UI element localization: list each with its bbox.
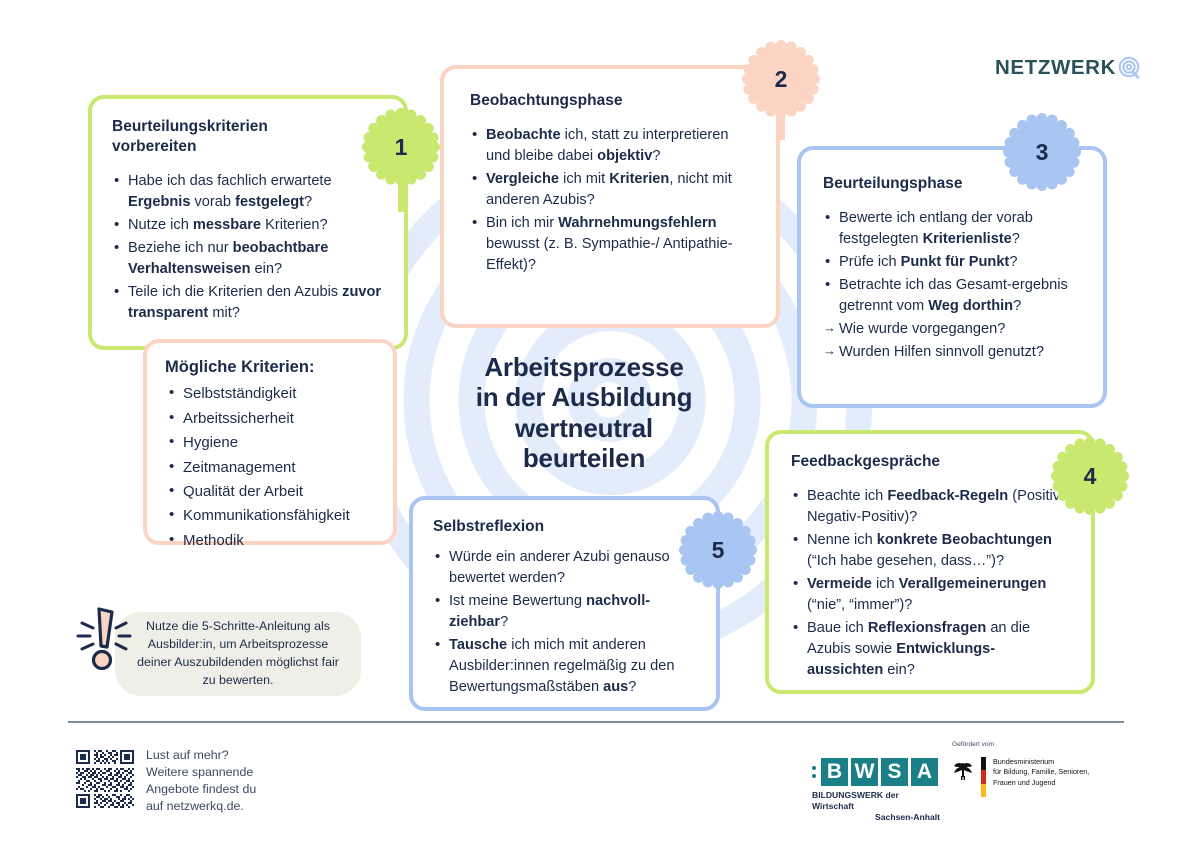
card-3-list: Bewerte ich entlang der vorab festgelegt… [823, 208, 1083, 363]
funded-by-label: Gefördert vom [952, 741, 1105, 748]
step-badge-3: 3 [1003, 113, 1081, 191]
list-item: Betrachte ich das Gesamt-ergebnis getren… [823, 275, 1083, 317]
bmbf-logo: Gefördert vom Bundesministerium für Bild… [952, 741, 1105, 797]
page-title-line: wertneutral [515, 413, 653, 443]
list-item: Kommunikationsfähigkeit [165, 506, 375, 526]
list-item: Nenne ich konkrete Beobachtungen (“Ich h… [791, 530, 1071, 572]
step-badge-3-number: 3 [1036, 139, 1049, 166]
footer-divider [68, 721, 1124, 723]
list-item: Bewerte ich entlang der vorab festgelegt… [823, 208, 1083, 250]
list-item: Selbstständigkeit [165, 384, 375, 404]
bwsa-subtitle-line: Sachsen-Anhalt [812, 812, 940, 823]
bwsa-dots-icon [812, 766, 816, 778]
qr-caption-line: auf netzwerkq.de. [146, 798, 256, 815]
german-flag-bar-icon [981, 757, 986, 797]
logo-wordmark: NETZWERK [995, 56, 1116, 80]
infographic-page: NETZWERK Beurteilungskriterien vorbereit… [0, 0, 1190, 842]
step-badge-4-number: 4 [1084, 463, 1097, 490]
list-item: Beziehe ich nur beobachtbare Verhaltensw… [112, 238, 384, 280]
bmbf-name: Bundesministerium für Bildung, Familie, … [993, 757, 1105, 788]
list-item: Ist meine Bewertung nachvoll-ziehbar? [433, 591, 696, 633]
bwsa-letter: W [851, 758, 878, 786]
bwsa-subtitle: BILDUNGSWERK der Wirtschaft Sachsen-Anha… [812, 790, 940, 824]
card-4-list: Beachte ich Feedback-Regeln (Positiv-Neg… [791, 486, 1071, 681]
list-item: Vermeide ich Verallgemeinerungen (“nie”,… [791, 574, 1071, 616]
card-2-list: Beobachte ich, statt zu interpretieren u… [470, 125, 754, 276]
qr-code-icon[interactable] [76, 750, 134, 808]
card-1-list: Habe ich das fachlich erwartete Ergebnis… [112, 171, 384, 324]
bwsa-letter: S [881, 758, 908, 786]
bwsa-letter: B [821, 758, 848, 786]
list-item: Qualität der Arbeit [165, 482, 375, 502]
list-item: Methodik [165, 531, 375, 551]
hint-bubble: Nutze die 5-Schritte-Anleitung als Ausbi… [115, 612, 361, 696]
card-beobachtungsphase: Beobachtungsphase Beobachte ich, statt z… [440, 65, 780, 328]
card-feedbackgespraeche: Feedbackgespräche Beachte ich Feedback-R… [765, 430, 1095, 694]
bmbf-name-line: für Bildung, Familie, Senioren, [993, 767, 1105, 777]
step-badge-5-number: 5 [712, 537, 725, 564]
hint-text: Nutze die 5-Schritte-Anleitung als Ausbi… [131, 618, 345, 689]
page-title-line: beurteilen [523, 443, 645, 473]
q-fingerprint-icon [1118, 56, 1142, 80]
step-badge-1-number: 1 [395, 134, 408, 161]
card-2-title: Beobachtungsphase [470, 91, 754, 111]
list-item: Nutze ich messbare Kriterien? [112, 215, 384, 236]
criteria-box-title: Mögliche Kriterien: [165, 357, 375, 378]
list-item: Prüfe ich Punkt für Punkt? [823, 252, 1083, 273]
card-5-list: Würde ein anderer Azubi genauso bewertet… [433, 547, 696, 698]
list-item: Baue ich Reflexionsfragen an die Azubis … [791, 618, 1071, 681]
qr-caption-line: Lust auf mehr? [146, 747, 256, 764]
card-selbstreflexion: Selbstreflexion Würde ein anderer Azubi … [409, 496, 720, 711]
list-item: Zeitmanagement [165, 458, 375, 478]
bmbf-name-line: Frauen und Jugend [993, 778, 1105, 788]
page-title-line: Arbeitsprozesse [484, 352, 683, 382]
list-item: Habe ich das fachlich erwartete Ergebnis… [112, 171, 384, 213]
list-item: Beobachte ich, statt zu interpretieren u… [470, 125, 754, 167]
bwsa-logo: B W S A BILDUNGSWERK der Wirtschaft Sach… [812, 758, 940, 824]
list-item-arrow: Wie wurde vorgegangen? [823, 319, 1083, 340]
list-item: Vergleiche ich mit Kriterien, nicht mit … [470, 169, 754, 211]
netzwerkq-logo: NETZWERK [995, 56, 1142, 80]
bmbf-name-line: Bundesministerium [993, 757, 1105, 767]
bwsa-subtitle-line: BILDUNGSWERK der Wirtschaft [812, 790, 940, 812]
list-item: Hygiene [165, 433, 375, 453]
federal-eagle-icon [952, 757, 974, 781]
step-badge-4: 4 [1051, 437, 1129, 515]
list-item: Würde ein anderer Azubi genauso bewertet… [433, 547, 696, 589]
step-badge-1: 1 [362, 108, 440, 186]
list-item: Arbeitssicherheit [165, 409, 375, 429]
card-5-title: Selbstreflexion [433, 517, 696, 537]
card-beurteilungskriterien-vorbereiten: Beurteilungskriterien vorbereiten Habe i… [88, 95, 408, 350]
step-badge-2: 2 [742, 40, 820, 118]
list-item: Bin ich mir Wahrnehmungsfehlern bewusst … [470, 213, 754, 276]
list-item: Teile ich die Kriterien den Azubis zuvor… [112, 282, 384, 324]
bwsa-letter: A [911, 758, 938, 786]
page-title: Arbeitsprozesse in der Ausbildung wertne… [445, 352, 723, 474]
page-title-line: in der Ausbildung [476, 382, 693, 412]
list-item-arrow: Wurden Hilfen sinnvoll genutzt? [823, 342, 1083, 363]
step-badge-2-number: 2 [775, 66, 788, 93]
list-item: Tausche ich mich mit anderen Ausbilder:i… [433, 635, 696, 698]
qr-caption-line: Weitere spannende [146, 764, 256, 781]
list-item: Beachte ich Feedback-Regeln (Positiv-Neg… [791, 486, 1071, 528]
card-1-title: Beurteilungskriterien vorbereiten [112, 117, 384, 157]
card-4-title: Feedbackgespräche [791, 452, 1071, 472]
exclamation-mark-icon [74, 601, 136, 677]
qr-caption: Lust auf mehr? Weitere spannende Angebot… [146, 747, 256, 815]
criteria-list: Selbstständigkeit Arbeitssicherheit Hygi… [165, 384, 375, 551]
step-badge-5: 5 [679, 511, 757, 589]
card-moegliche-kriterien: Mögliche Kriterien: Selbstständigkeit Ar… [143, 339, 397, 545]
qr-caption-line: Angebote findest du [146, 781, 256, 798]
